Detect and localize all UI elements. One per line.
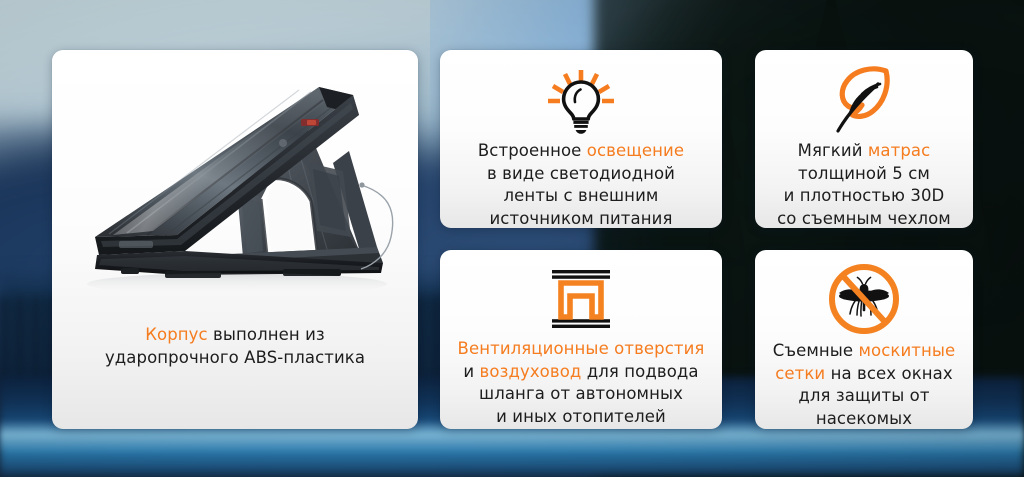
air-vent-icon — [548, 266, 614, 332]
feature-card-built-in-lighting[interactable]: Встроенное освещениев виде светодиоднойл… — [440, 50, 722, 228]
feature-card-soft-mattress[interactable]: Мягкий матрастолщиной 5 сми плотностью 3… — [755, 50, 973, 228]
highlighted-text: Вентиляционные отверстия — [458, 339, 705, 358]
caption-text: на всех окнах — [825, 364, 952, 383]
no-mosquito-icon — [827, 260, 901, 338]
caption-text: и иных отопителей — [496, 407, 666, 426]
caption-text: выполнен из — [208, 325, 325, 344]
caption-text: в виде светодиодной — [487, 164, 675, 183]
caption-text: Встроенное — [478, 141, 587, 160]
caption-text: толщиной 5 см — [798, 164, 930, 183]
caption-text: со съемным чехлом — [777, 209, 951, 228]
caption-text: Мягкий — [798, 141, 868, 160]
feature-banner: Корпус выполнен изударопрочного ABS-плас… — [0, 0, 1024, 477]
highlighted-text: матрас — [868, 141, 930, 160]
caption-text: ударопрочного ABS-пластика — [105, 348, 365, 367]
feature-card-mosquito-nets[interactable]: Съемные москитныесетки на всех окнахдля … — [755, 250, 973, 429]
highlighted-text: воздуховод — [480, 362, 582, 381]
highlighted-text: освещение — [587, 141, 684, 160]
caption-text: для подвода — [581, 362, 698, 381]
lightbulb-icon — [545, 64, 617, 138]
highlighted-text: сетки — [775, 364, 825, 383]
roof-tent-illustration — [61, 59, 409, 309]
caption-text: насекомых — [816, 409, 912, 428]
feature-caption-mosquito-nets: Съемные москитныесетки на всех окнахдля … — [773, 340, 956, 429]
highlighted-text: Корпус — [145, 325, 208, 344]
feature-card-ventilation[interactable]: Вентиляционные отверстияи воздуховод для… — [440, 250, 722, 429]
feature-caption-built-in-lighting: Встроенное освещениев виде светодиоднойл… — [478, 140, 684, 228]
feather-icon — [826, 60, 902, 138]
caption-text: источником питания — [489, 209, 672, 228]
feature-caption-body-material: Корпус выполнен изударопрочного ABS-плас… — [91, 324, 379, 369]
feature-card-body-material[interactable]: Корпус выполнен изударопрочного ABS-плас… — [52, 50, 418, 429]
feature-caption-ventilation: Вентиляционные отверстияи воздуховод для… — [458, 338, 705, 428]
caption-text: Съемные — [773, 341, 859, 360]
feature-caption-soft-mattress: Мягкий матрастолщиной 5 сми плотностью 3… — [777, 140, 951, 228]
caption-text: для защиты от — [798, 386, 929, 405]
caption-text: и плотностью 30D — [784, 186, 945, 205]
caption-text: шланга от автономных — [479, 384, 683, 403]
highlighted-text: москитные — [859, 341, 956, 360]
caption-text: и — [463, 362, 479, 381]
product-photo — [52, 50, 418, 318]
caption-text: ленты с внешним — [504, 186, 659, 205]
